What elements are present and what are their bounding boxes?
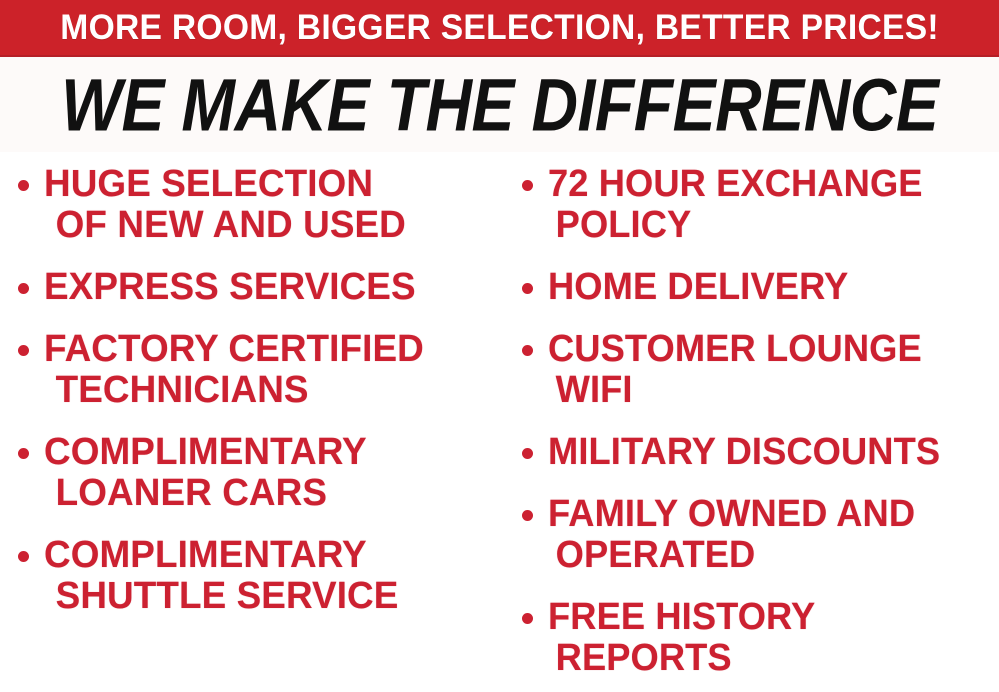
feature-line-continuation: TECHNICIANS xyxy=(44,370,424,411)
headline-section: WE MAKE THE DIFFERENCE xyxy=(0,57,999,152)
promo-banner: MORE ROOM, BIGGER SELECTION, BETTER PRIC… xyxy=(0,0,999,57)
feature-line-primary: CUSTOMER LOUNGE xyxy=(548,329,922,370)
feature-line-primary: HUGE SELECTION xyxy=(44,164,406,205)
bullet-dot-icon xyxy=(18,283,29,294)
feature-item-label: 72 HOUR EXCHANGEPOLICY xyxy=(548,164,923,246)
features-column-right: 72 HOUR EXCHANGEPOLICYHOME DELIVERYCUSTO… xyxy=(508,152,999,692)
feature-item: HOME DELIVERY xyxy=(522,267,999,308)
feature-item: FAMILY OWNED ANDOPERATED xyxy=(522,494,999,576)
bullet-dot-icon xyxy=(522,180,533,191)
bullet-dot-icon xyxy=(522,345,533,356)
feature-item: COMPLIMENTARYLOANER CARS xyxy=(18,432,508,514)
bullet-dot-icon xyxy=(18,448,29,459)
feature-line-continuation: LOANER CARS xyxy=(44,473,367,514)
feature-line-primary: 72 HOUR EXCHANGE xyxy=(548,164,923,205)
feature-line-primary: FREE HISTORY xyxy=(548,597,815,638)
promo-banner-text: MORE ROOM, BIGGER SELECTION, BETTER PRIC… xyxy=(60,10,939,45)
feature-item: HUGE SELECTIONOF NEW AND USED xyxy=(18,164,508,246)
feature-item-label: EXPRESS SERVICES xyxy=(44,267,416,308)
feature-line-continuation: OF NEW AND USED xyxy=(44,205,406,246)
feature-line-primary: FAMILY OWNED AND xyxy=(548,494,915,535)
feature-item: CUSTOMER LOUNGEWIFI xyxy=(522,329,999,411)
bullet-dot-icon xyxy=(522,283,533,294)
feature-line-primary: HOME DELIVERY xyxy=(548,267,848,308)
feature-item-label: FAMILY OWNED ANDOPERATED xyxy=(548,494,915,576)
feature-item-label: HOME DELIVERY xyxy=(548,267,848,308)
feature-item: 72 HOUR EXCHANGEPOLICY xyxy=(522,164,999,246)
feature-line-primary: EXPRESS SERVICES xyxy=(44,267,416,308)
feature-line-primary: COMPLIMENTARY xyxy=(44,432,367,473)
page-title: WE MAKE THE DIFFERENCE xyxy=(61,67,938,141)
feature-item-label: FREE HISTORYREPORTS xyxy=(548,597,815,679)
feature-item: EXPRESS SERVICES xyxy=(18,267,508,308)
features-column-left: HUGE SELECTIONOF NEW AND USEDEXPRESS SER… xyxy=(0,152,508,692)
feature-item-label: COMPLIMENTARYSHUTTLE SERVICE xyxy=(44,535,398,617)
feature-item: FACTORY CERTIFIEDTECHNICIANS xyxy=(18,329,508,411)
feature-item: COMPLIMENTARYSHUTTLE SERVICE xyxy=(18,535,508,617)
feature-item: MILITARY DISCOUNTS xyxy=(522,432,999,473)
bullet-dot-icon xyxy=(18,345,29,356)
bullet-dot-icon xyxy=(522,448,533,459)
feature-line-primary: FACTORY CERTIFIED xyxy=(44,329,424,370)
feature-line-continuation: OPERATED xyxy=(548,535,915,576)
feature-item-label: FACTORY CERTIFIEDTECHNICIANS xyxy=(44,329,424,411)
feature-line-primary: COMPLIMENTARY xyxy=(44,535,398,576)
feature-line-continuation: WIFI xyxy=(548,370,922,411)
feature-line-continuation: POLICY xyxy=(548,205,923,246)
features-columns: HUGE SELECTIONOF NEW AND USEDEXPRESS SER… xyxy=(0,152,999,692)
feature-item: FREE HISTORYREPORTS xyxy=(522,597,999,679)
bullet-dot-icon xyxy=(522,510,533,521)
feature-item-label: COMPLIMENTARYLOANER CARS xyxy=(44,432,367,514)
feature-line-continuation: SHUTTLE SERVICE xyxy=(44,576,398,617)
feature-line-continuation: REPORTS xyxy=(548,638,815,679)
bullet-dot-icon xyxy=(18,180,29,191)
bullet-dot-icon xyxy=(522,613,533,624)
feature-item-label: HUGE SELECTIONOF NEW AND USED xyxy=(44,164,406,246)
feature-item-label: MILITARY DISCOUNTS xyxy=(548,432,940,473)
bullet-dot-icon xyxy=(18,551,29,562)
feature-item-label: CUSTOMER LOUNGEWIFI xyxy=(548,329,922,411)
feature-line-primary: MILITARY DISCOUNTS xyxy=(548,432,940,473)
